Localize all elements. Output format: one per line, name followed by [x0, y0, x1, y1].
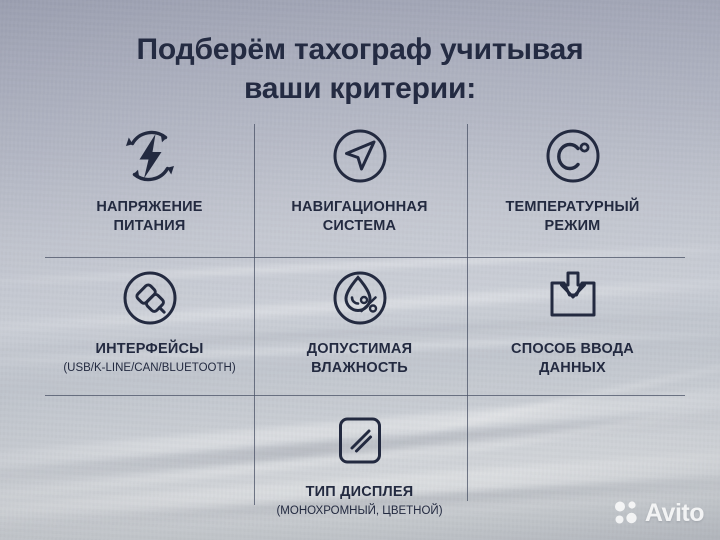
avito-logo-icon: [613, 500, 639, 526]
criteria-grid: НАПРЯЖЕНИЕ ПИТАНИЯ НАВИГАЦИОННАЯ СИСТЕМА: [45, 120, 685, 515]
criteria-label: ТЕМПЕРАТУРНЫЙ РЕЖИМ: [468, 198, 677, 236]
criteria-item-interfaces: ИНТЕРФЕЙСЫ (USB/K-LINE/CAN/BLUETOOTH): [45, 262, 254, 376]
display-screen-icon: [255, 405, 464, 477]
criteria-item-humidity: ДОПУСТИМАЯ ВЛАЖНОСТЬ: [255, 262, 464, 378]
criteria-item-navigation: НАВИГАЦИОННАЯ СИСТЕМА: [255, 120, 464, 236]
criteria-item-display-type: ТИП ДИСПЛЕЯ (МОНОХРОМНЫЙ, ЦВЕТНОЙ): [255, 405, 464, 519]
power-lightning-cycle-icon: [45, 120, 254, 192]
criteria-label: СПОСОБ ВВОДА ДАННЫХ: [468, 340, 677, 378]
usb-plug-icon: [45, 262, 254, 334]
humidity-droplet-percent-icon: [255, 262, 464, 334]
criteria-sublabel: (USB/K-LINE/CAN/BLUETOOTH): [45, 361, 254, 376]
avito-wordmark: Avito: [645, 501, 704, 526]
grid-divider-horizontal: [45, 257, 685, 258]
avito-watermark: Avito: [613, 500, 704, 526]
criteria-item-data-input: СПОСОБ ВВОДА ДАННЫХ: [468, 262, 677, 378]
data-input-tray-icon: [468, 262, 677, 334]
page-title-line-2: ваши критерии:: [24, 69, 696, 108]
criteria-label: НАВИГАЦИОННАЯ СИСТЕМА: [255, 198, 464, 236]
criteria-sublabel: (МОНОХРОМНЫЙ, ЦВЕТНОЙ): [255, 504, 464, 519]
grid-divider-horizontal: [45, 395, 685, 396]
criteria-item-temperature: ТЕМПЕРАТУРНЫЙ РЕЖИМ: [468, 120, 677, 236]
temperature-celsius-icon: [468, 120, 677, 192]
criteria-label: ДОПУСТИМАЯ ВЛАЖНОСТЬ: [255, 340, 464, 378]
page-title-line-1: Подберём тахограф учитывая: [137, 33, 584, 66]
criteria-item-power-voltage: НАПРЯЖЕНИЕ ПИТАНИЯ: [45, 120, 254, 236]
navigation-arrow-icon: [255, 120, 464, 192]
page-title: Подберём тахограф учитывая ваши критерии…: [0, 30, 720, 108]
criteria-label: ТИП ДИСПЛЕЯ: [255, 483, 464, 502]
criteria-label: ИНТЕРФЕЙСЫ: [45, 340, 254, 359]
criteria-label: НАПРЯЖЕНИЕ ПИТАНИЯ: [45, 198, 254, 236]
